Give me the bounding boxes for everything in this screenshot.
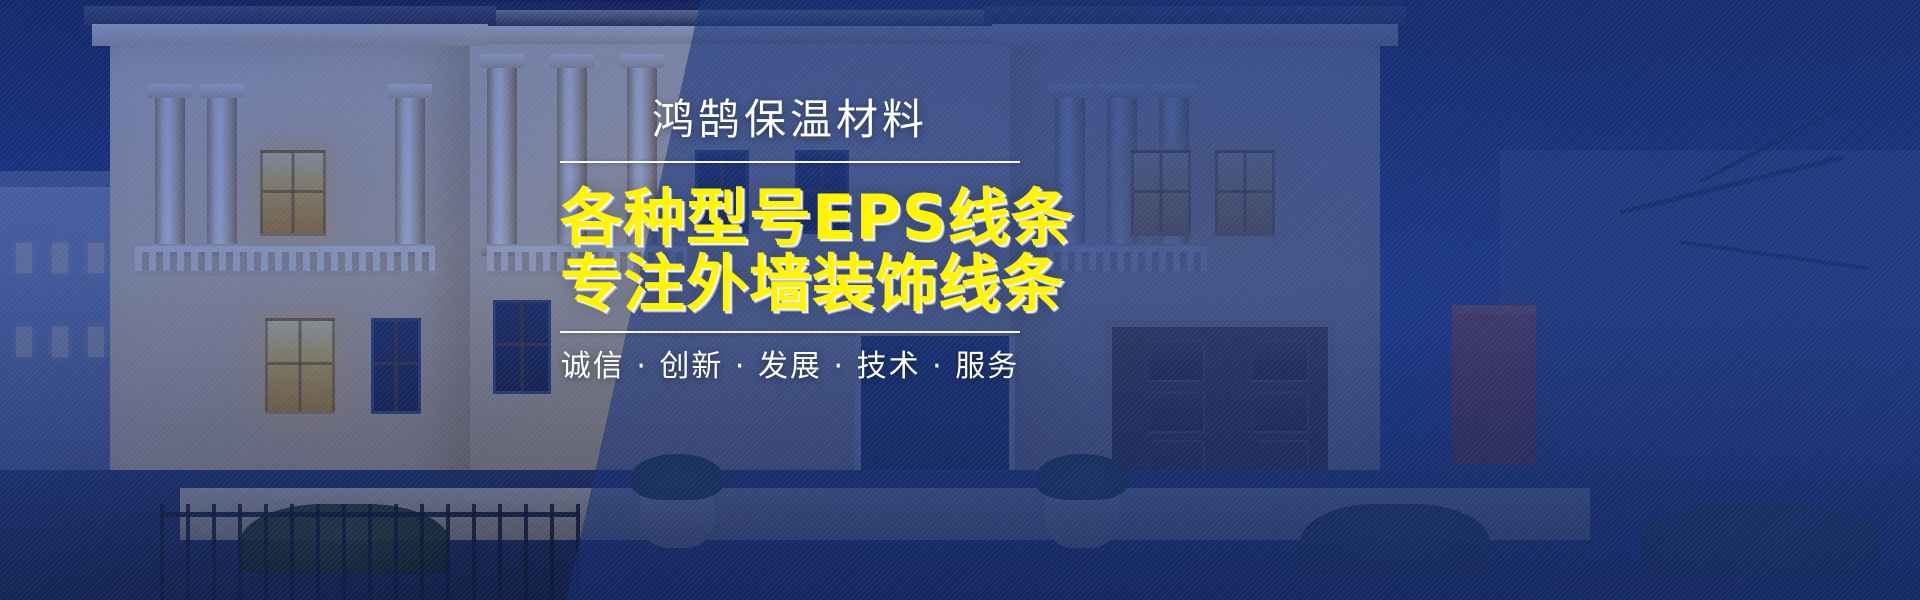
headline-line-2: 专注外墙装饰线条 [560,251,1020,317]
banner-text-block: 鸿鹄保温材料 各种型号EPS线条 专注外墙装饰线条 诚信 · 创新 · 发展 ·… [560,96,1020,385]
brand-name: 鸿鹄保温材料 [560,96,1020,144]
headline-line-1: 各种型号EPS线条 [560,185,1020,251]
divider-top [560,161,1020,163]
divider-bottom [560,331,1020,333]
tagline: 诚信 · 创新 · 发展 · 技术 · 服务 [560,349,1020,385]
hero-banner: 鸿鹄保温材料 各种型号EPS线条 专注外墙装饰线条 诚信 · 创新 · 发展 ·… [0,0,1920,600]
headline-group: 各种型号EPS线条 专注外墙装饰线条 [560,185,1020,316]
